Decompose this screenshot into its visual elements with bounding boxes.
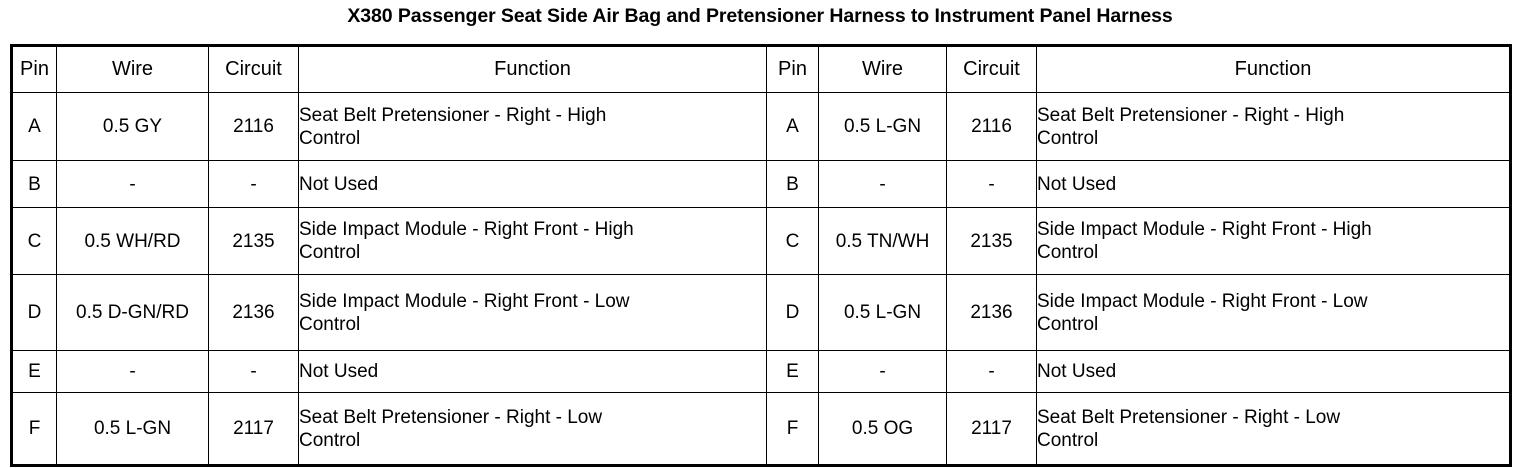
function-line-1: Seat Belt Pretensioner - Right - High [299, 104, 766, 127]
cell-pin-left: F [12, 393, 57, 466]
cell-pin-left: E [12, 351, 57, 393]
cell-wire-right: 0.5 TN/WH [819, 208, 947, 275]
function-line-2: Control [1037, 127, 1509, 150]
cell-function-left: Seat Belt Pretensioner - Right - Low Con… [299, 393, 767, 466]
cell-wire-left: - [57, 161, 209, 208]
cell-circuit-left: 2136 [209, 275, 299, 351]
header-circuit-right: Circuit [947, 46, 1037, 93]
cell-circuit-right: 2117 [947, 393, 1037, 466]
function-line-1: Not Used [299, 360, 766, 383]
function-line-1: Side Impact Module - Right Front - High [1037, 218, 1509, 241]
cell-pin-right: E [767, 351, 819, 393]
cell-circuit-left: - [209, 351, 299, 393]
cell-wire-left: 0.5 D-GN/RD [57, 275, 209, 351]
table-row: B - - Not Used B - - Not Used [12, 161, 1511, 208]
cell-function-right: Not Used [1037, 351, 1511, 393]
cell-function-left: Side Impact Module - Right Front - Low C… [299, 275, 767, 351]
table-body: A 0.5 GY 2116 Seat Belt Pretensioner - R… [12, 93, 1511, 466]
function-line-1: Not Used [1037, 173, 1509, 196]
cell-function-left: Seat Belt Pretensioner - Right - High Co… [299, 93, 767, 161]
pinout-table-container: Pin Wire Circuit Function Pin Wire Circu… [10, 44, 1509, 467]
cell-pin-right: A [767, 93, 819, 161]
cell-wire-left: 0.5 L-GN [57, 393, 209, 466]
function-line-2: Control [1037, 429, 1509, 452]
pinout-document-page: X380 Passenger Seat Side Air Bag and Pre… [0, 0, 1520, 468]
header-circuit-left: Circuit [209, 46, 299, 93]
cell-wire-left: - [57, 351, 209, 393]
cell-pin-right: F [767, 393, 819, 466]
cell-function-left: Not Used [299, 161, 767, 208]
table-row: C 0.5 WH/RD 2135 Side Impact Module - Ri… [12, 208, 1511, 275]
cell-pin-left: A [12, 93, 57, 161]
function-line-1: Seat Belt Pretensioner - Right - Low [1037, 406, 1509, 429]
header-function-left: Function [299, 46, 767, 93]
table-header: Pin Wire Circuit Function Pin Wire Circu… [12, 46, 1511, 93]
table-row: E - - Not Used E - - Not Used [12, 351, 1511, 393]
function-line-2: Control [1037, 241, 1509, 264]
header-wire-right: Wire [819, 46, 947, 93]
pinout-table: Pin Wire Circuit Function Pin Wire Circu… [10, 44, 1512, 467]
cell-wire-left: 0.5 GY [57, 93, 209, 161]
function-line-2: Control [299, 241, 766, 264]
cell-pin-left: B [12, 161, 57, 208]
cell-function-right: Side Impact Module - Right Front - High … [1037, 208, 1511, 275]
cell-circuit-right: 2116 [947, 93, 1037, 161]
function-line-1: Side Impact Module - Right Front - Low [1037, 290, 1509, 313]
header-wire-left: Wire [57, 46, 209, 93]
page-title: X380 Passenger Seat Side Air Bag and Pre… [0, 5, 1520, 28]
function-line-1: Not Used [299, 173, 766, 196]
cell-circuit-left: - [209, 161, 299, 208]
cell-wire-left: 0.5 WH/RD [57, 208, 209, 275]
cell-pin-right: C [767, 208, 819, 275]
cell-function-left: Side Impact Module - Right Front - High … [299, 208, 767, 275]
cell-circuit-right: 2136 [947, 275, 1037, 351]
cell-circuit-left: 2135 [209, 208, 299, 275]
function-line-1: Side Impact Module - Right Front - High [299, 218, 766, 241]
header-pin-left: Pin [12, 46, 57, 93]
cell-pin-right: B [767, 161, 819, 208]
cell-pin-left: D [12, 275, 57, 351]
cell-wire-right: - [819, 351, 947, 393]
cell-circuit-right: - [947, 351, 1037, 393]
table-row: F 0.5 L-GN 2117 Seat Belt Pretensioner -… [12, 393, 1511, 466]
cell-circuit-left: 2117 [209, 393, 299, 466]
cell-wire-right: 0.5 L-GN [819, 275, 947, 351]
cell-function-right: Side Impact Module - Right Front - Low C… [1037, 275, 1511, 351]
table-row: D 0.5 D-GN/RD 2136 Side Impact Module - … [12, 275, 1511, 351]
cell-wire-right: 0.5 OG [819, 393, 947, 466]
function-line-2: Control [299, 127, 766, 150]
cell-function-right: Not Used [1037, 161, 1511, 208]
function-line-1: Not Used [1037, 360, 1509, 383]
function-line-2: Control [299, 429, 766, 452]
cell-pin-left: C [12, 208, 57, 275]
function-line-1: Seat Belt Pretensioner - Right - High [1037, 104, 1509, 127]
cell-function-right: Seat Belt Pretensioner - Right - High Co… [1037, 93, 1511, 161]
function-line-1: Seat Belt Pretensioner - Right - Low [299, 406, 766, 429]
cell-function-right: Seat Belt Pretensioner - Right - Low Con… [1037, 393, 1511, 466]
cell-circuit-left: 2116 [209, 93, 299, 161]
header-function-right: Function [1037, 46, 1511, 93]
cell-circuit-right: - [947, 161, 1037, 208]
cell-circuit-right: 2135 [947, 208, 1037, 275]
table-row: A 0.5 GY 2116 Seat Belt Pretensioner - R… [12, 93, 1511, 161]
function-line-2: Control [299, 313, 766, 336]
cell-pin-right: D [767, 275, 819, 351]
cell-wire-right: - [819, 161, 947, 208]
function-line-2: Control [1037, 313, 1509, 336]
cell-function-left: Not Used [299, 351, 767, 393]
function-line-1: Side Impact Module - Right Front - Low [299, 290, 766, 313]
header-pin-right: Pin [767, 46, 819, 93]
cell-wire-right: 0.5 L-GN [819, 93, 947, 161]
header-row: Pin Wire Circuit Function Pin Wire Circu… [12, 46, 1511, 93]
